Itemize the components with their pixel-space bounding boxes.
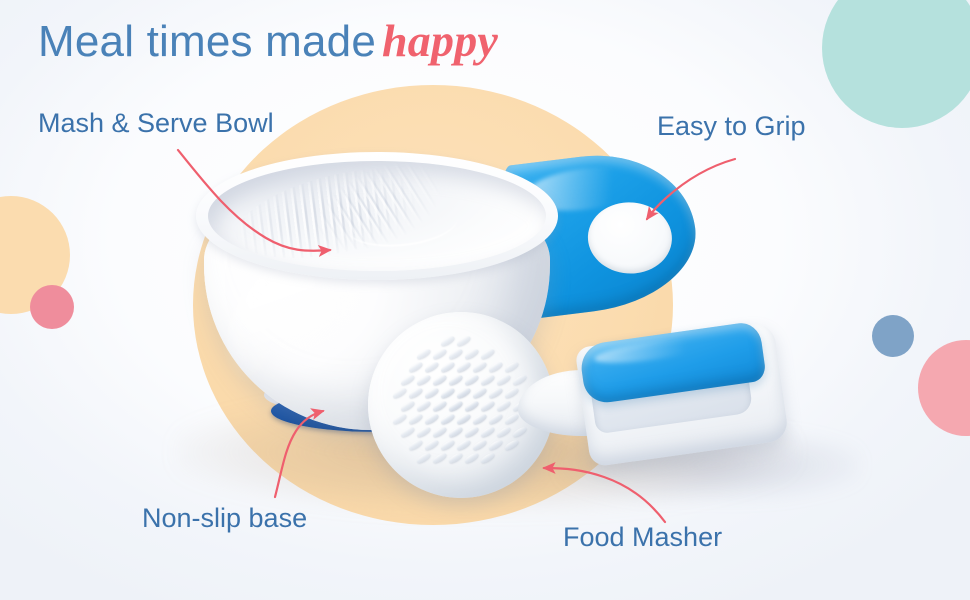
callout-label-food-masher: Food Masher <box>563 524 722 551</box>
food-masher <box>368 312 798 502</box>
bowl-body-highlight <box>230 264 350 404</box>
masher-handle-loop <box>575 321 790 468</box>
infographic-canvas: Meal times madehappy Mash & Serve Bowl E… <box>0 0 970 600</box>
page-headline: Meal times madehappy <box>38 18 498 64</box>
callout-label-non-slip-base: Non-slip base <box>142 505 307 532</box>
callout-label-easy-to-grip: Easy to Grip <box>657 113 806 140</box>
headline-accent-text: happy <box>382 15 498 66</box>
headline-main-text: Meal times made <box>38 17 376 66</box>
masher-head-dimples <box>384 330 534 480</box>
callout-label-mash-serve-bowl: Mash & Serve Bowl <box>38 110 274 137</box>
